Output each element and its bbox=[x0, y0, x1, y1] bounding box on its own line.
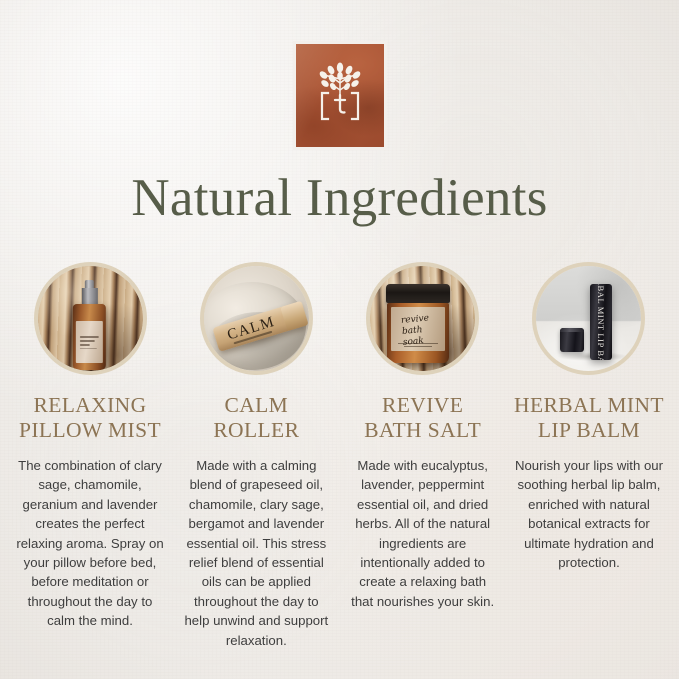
product-photo-ring: revive bath soak bbox=[366, 262, 479, 375]
lip-balm-label-text: HERBAL MINT LIP BALM bbox=[596, 284, 606, 360]
pillow-mist-photo bbox=[38, 266, 143, 371]
product-card-revive-bath-salt: revive bath soak REVIVE BATH SALT Made w… bbox=[341, 262, 505, 611]
product-description: Made with eucalyptus, lavender, peppermi… bbox=[341, 456, 505, 611]
product-title: RELAXING PILLOW MIST bbox=[19, 393, 161, 443]
product-grid: RELAXING PILLOW MIST The combination of … bbox=[8, 262, 671, 650]
bath-soak-jar-illustration: revive bath soak bbox=[386, 284, 450, 362]
product-description: Nourish your lips with our soothing herb… bbox=[507, 456, 671, 572]
product-title: CALM ROLLER bbox=[213, 393, 299, 443]
product-photo-ring: HERBAL MINT LIP BALM bbox=[532, 262, 645, 375]
lip-balm-photo: HERBAL MINT LIP BALM bbox=[536, 266, 641, 371]
lip-balm-cap bbox=[560, 328, 584, 352]
brand-logo bbox=[0, 41, 679, 150]
product-title: REVIVE BATH SALT bbox=[364, 393, 481, 443]
product-photo-ring bbox=[34, 262, 147, 375]
spray-bottle-illustration bbox=[73, 280, 106, 370]
product-description: The combination of clary sage, chamomile… bbox=[8, 456, 172, 631]
product-card-herbal-mint-lip-balm: HERBAL MINT LIP BALM HERBAL MINT LIP BAL… bbox=[507, 262, 671, 572]
lip-balm-tube-illustration: HERBAL MINT LIP BALM bbox=[590, 284, 612, 360]
logo-frame bbox=[293, 41, 387, 150]
product-photo-ring: CALM bbox=[200, 262, 313, 375]
product-title: HERBAL MINT LIP BALM bbox=[514, 393, 664, 443]
product-description: Made with a calming blend of grapeseed o… bbox=[174, 456, 338, 650]
calm-roller-photo: CALM bbox=[204, 266, 309, 371]
page-title: Natural Ingredients bbox=[0, 172, 679, 225]
product-card-calm-roller: CALM CALM ROLLER Made with a calming ble… bbox=[174, 262, 338, 650]
product-card-relaxing-pillow-mist: RELAXING PILLOW MIST The combination of … bbox=[8, 262, 172, 631]
tree-in-brackets-icon bbox=[312, 61, 368, 130]
bath-salt-photo: revive bath soak bbox=[370, 266, 475, 371]
logo-tile bbox=[296, 44, 384, 147]
